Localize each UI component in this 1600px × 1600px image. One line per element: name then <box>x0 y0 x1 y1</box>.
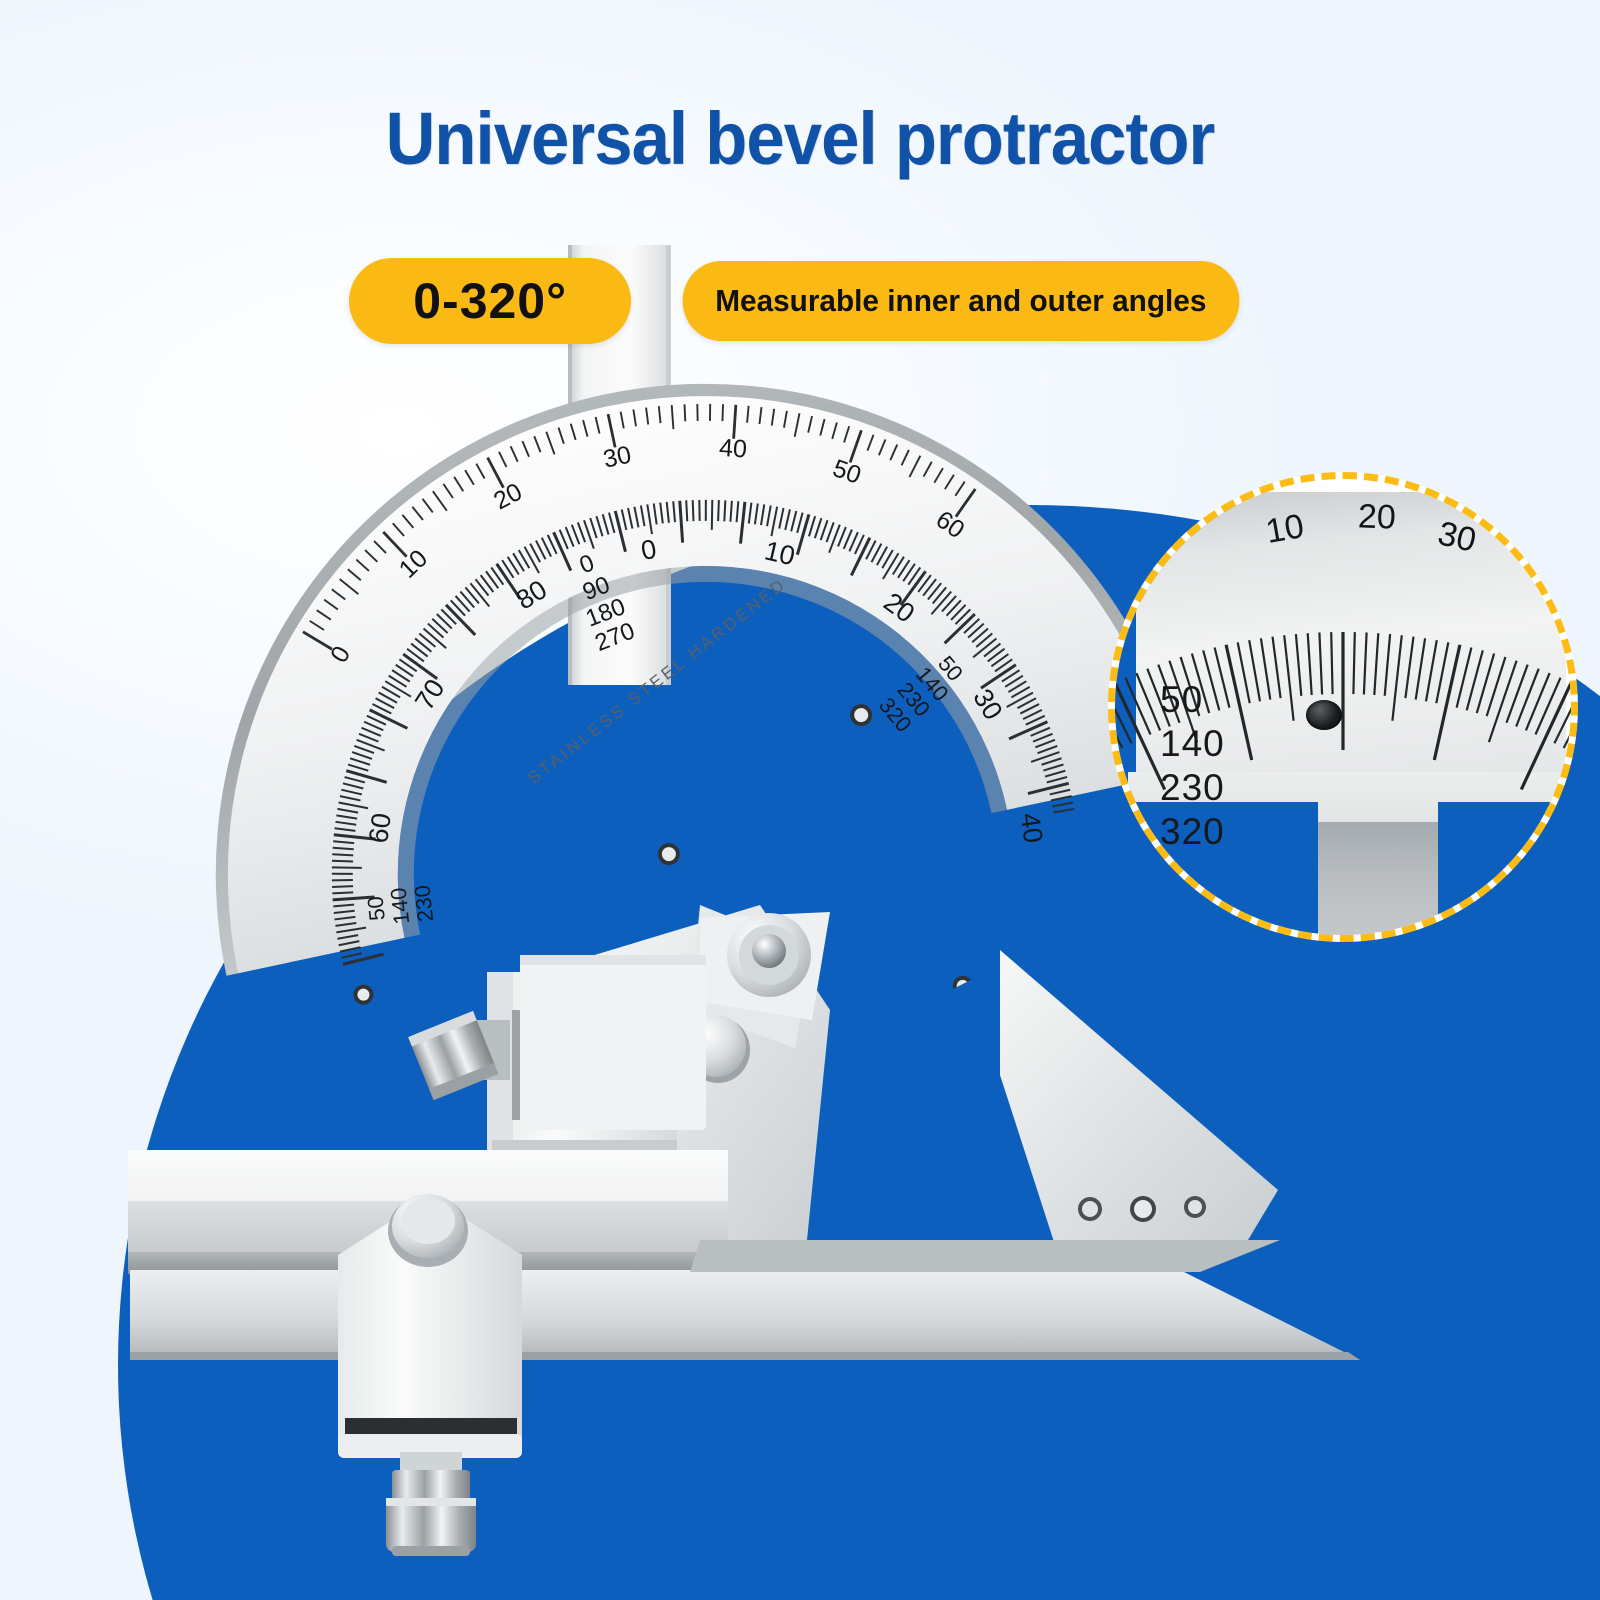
svg-text:30: 30 <box>601 441 634 474</box>
clamp-block <box>338 1194 522 1556</box>
badge-row: 0-320° Measurable inner and outer angles <box>0 258 1600 344</box>
product-image-canvas: 0102030405060 80706001020304009018027050… <box>0 0 1600 1600</box>
magnified-scale-inset: 10 20 30 50 140 230 320 <box>1108 472 1578 942</box>
svg-text:40: 40 <box>718 434 748 464</box>
magnifier-rivet-icon <box>1306 700 1342 730</box>
page-title: Universal bevel protractor <box>56 96 1544 181</box>
arc-lower-leg <box>1000 950 1278 1245</box>
carriage-block <box>487 955 706 1164</box>
svg-text:40: 40 <box>1015 811 1049 845</box>
bottom-knurled-knob[interactable] <box>386 1452 476 1556</box>
pivot-screw <box>700 912 830 1020</box>
feature-badge: Measurable inner and outer angles <box>683 261 1239 341</box>
range-badge: 0-320° <box>349 258 631 344</box>
svg-text:230: 230 <box>409 884 438 923</box>
magnifier-stacked-labels: 50 140 230 320 <box>1160 678 1225 854</box>
svg-text:60: 60 <box>363 811 397 845</box>
